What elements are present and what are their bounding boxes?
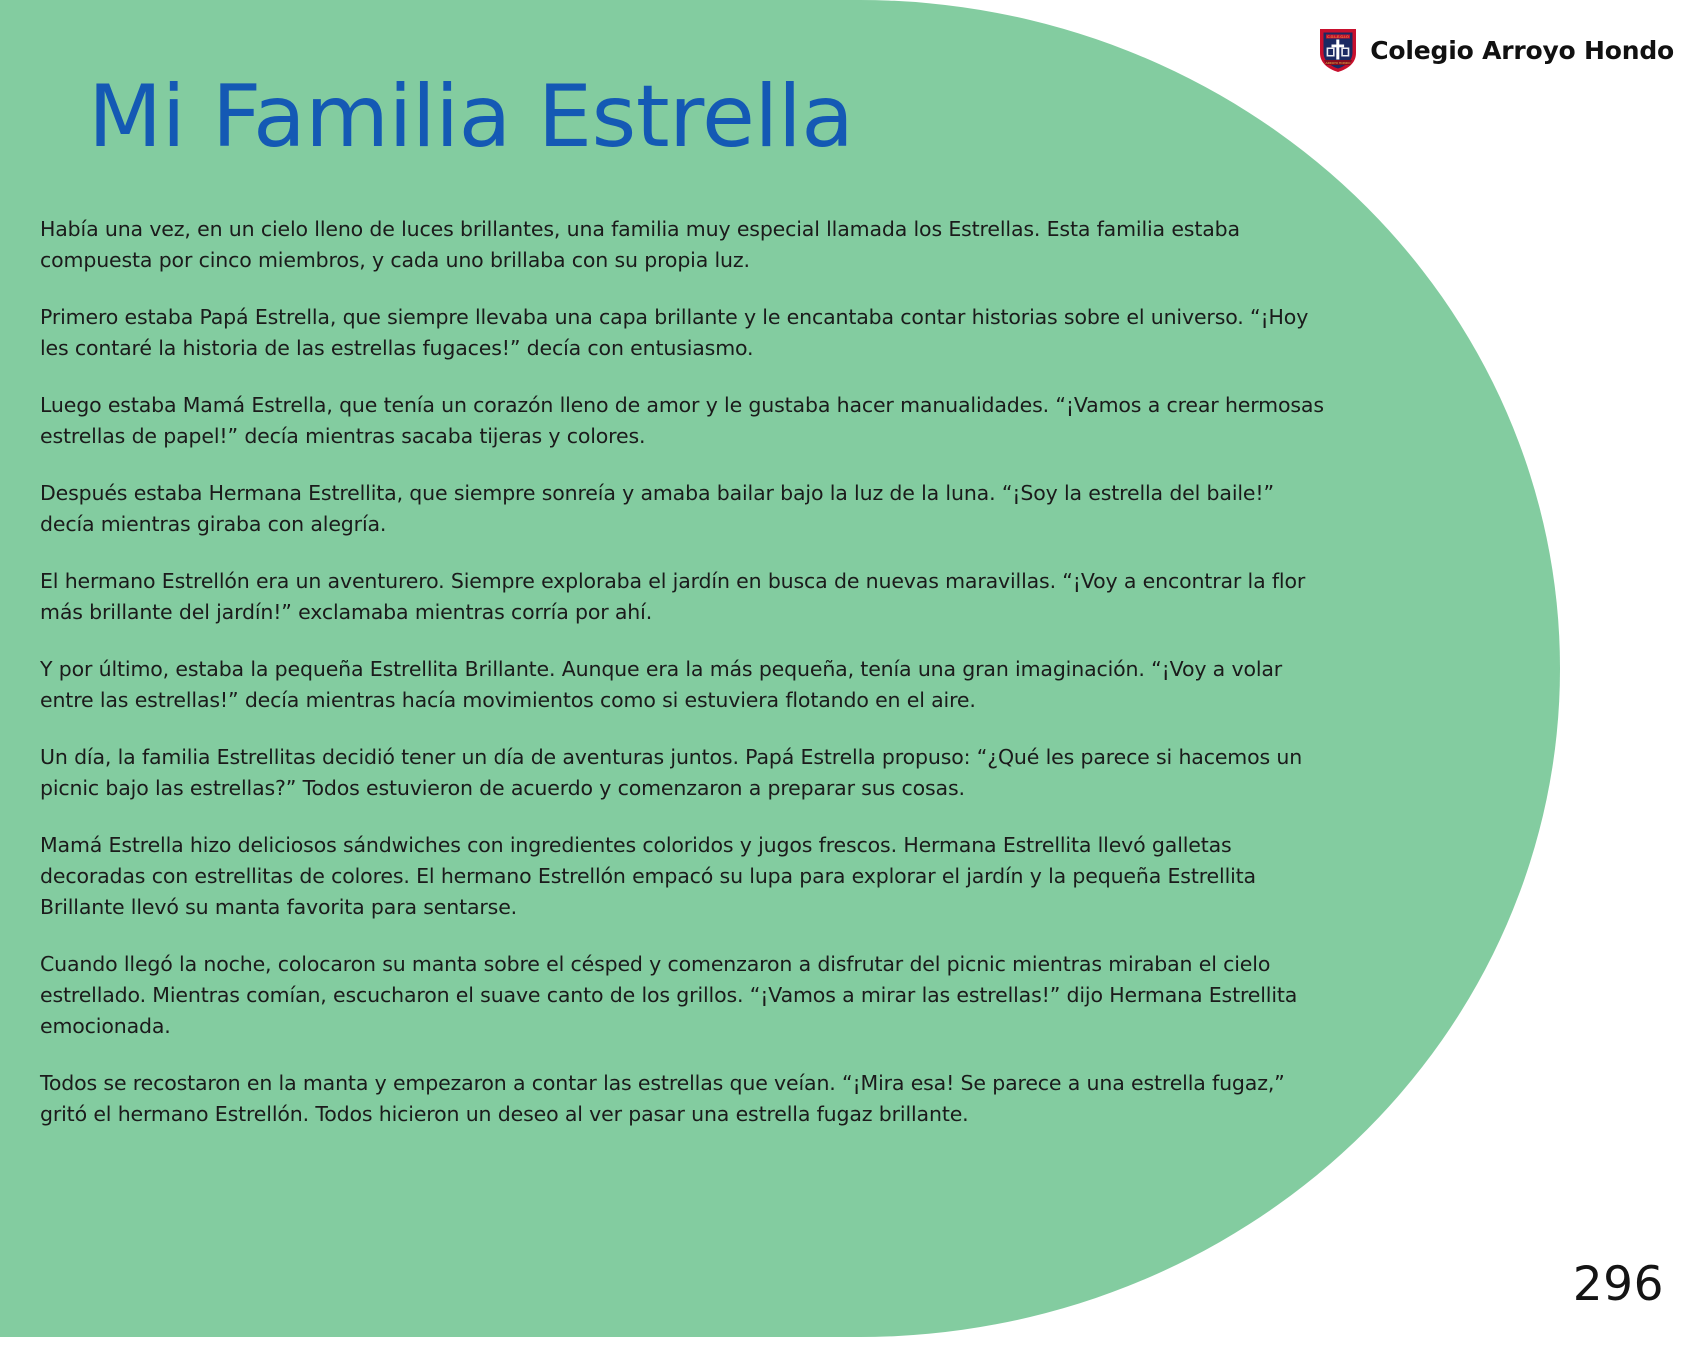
story-paragraph: Primero estaba Papá Estrella, que siempr… (40, 302, 1330, 364)
story-page: C.O.L.E.G.I.O ARROYO HONDO Colegio Arroy… (0, 0, 1700, 1360)
school-brand: C.O.L.E.G.I.O ARROYO HONDO Colegio Arroy… (1317, 27, 1674, 73)
svg-text:C.O.L.E.G.I.O: C.O.L.E.G.I.O (1327, 35, 1349, 39)
svg-text:ARROYO HONDO: ARROYO HONDO (1326, 61, 1352, 65)
story-paragraph: Mamá Estrella hizo deliciosos sándwiches… (40, 830, 1330, 923)
story-paragraph: Todos se recostaron en la manta y empeza… (40, 1068, 1330, 1130)
page-title: Mi Familia Estrella (88, 72, 853, 162)
story-paragraph: Había una vez, en un cielo lleno de luce… (40, 214, 1330, 276)
story-paragraph: Y por último, estaba la pequeña Estrelli… (40, 654, 1330, 716)
story-body: Había una vez, en un cielo lleno de luce… (40, 214, 1330, 1130)
school-name-label: Colegio Arroyo Hondo (1370, 36, 1674, 65)
story-paragraph: Cuando llegó la noche, colocaron su mant… (40, 949, 1330, 1042)
story-paragraph: Un día, la familia Estrellitas decidió t… (40, 742, 1330, 804)
school-shield-crest-icon: C.O.L.E.G.I.O ARROYO HONDO (1317, 27, 1359, 73)
page-number: 296 (1573, 1257, 1664, 1312)
story-paragraph: Después estaba Hermana Estrellita, que s… (40, 478, 1330, 540)
story-paragraph: El hermano Estrellón era un aventurero. … (40, 566, 1330, 628)
story-paragraph: Luego estaba Mamá Estrella, que tenía un… (40, 390, 1330, 452)
